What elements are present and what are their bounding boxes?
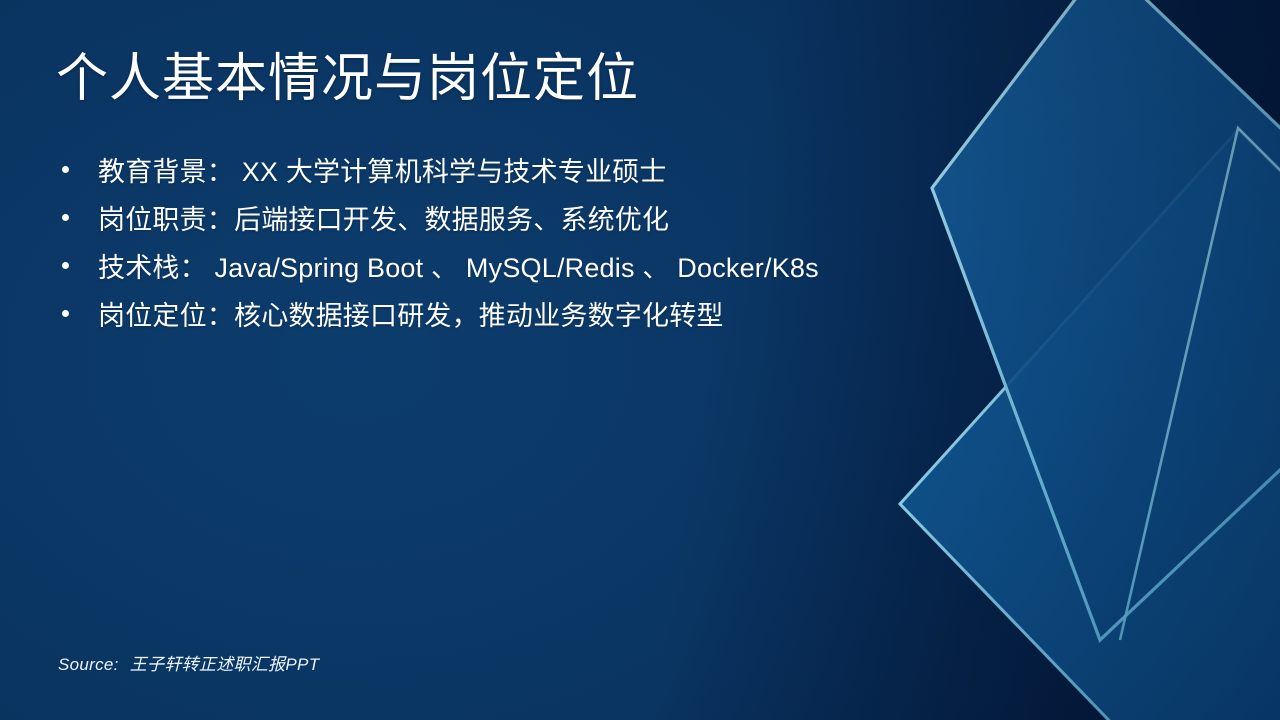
list-item: 岗位定位：核心数据接口研发，推动业务数字化转型: [60, 294, 1060, 342]
bullet-dot-icon: [60, 166, 70, 173]
presentation-slide: 个人基本情况与岗位定位 教育背景： XX 大学计算机科学与技术专业硕士 岗位职责…: [0, 0, 1280, 720]
bullet-dot-icon: [60, 262, 70, 269]
list-item: 技术栈： Java/Spring Boot 、 MySQL/Redis 、 Do…: [60, 246, 1060, 294]
source-footer: Source: 王子轩转正述职汇报PPT: [58, 653, 319, 677]
bullet-list: 教育背景： XX 大学计算机科学与技术专业硕士 岗位职责：后端接口开发、数据服务…: [60, 150, 1060, 342]
list-item: 教育背景： XX 大学计算机科学与技术专业硕士: [60, 150, 1060, 198]
source-value: 王子轩转正述职汇报PPT: [130, 655, 320, 674]
page-title: 个人基本情况与岗位定位: [56, 48, 639, 110]
list-item-label: 岗位定位：核心数据接口研发，推动业务数字化转型: [98, 294, 724, 338]
bullet-dot-icon: [60, 310, 70, 317]
source-label: Source:: [58, 655, 119, 674]
list-item-label: 技术栈： Java/Spring Boot 、 MySQL/Redis 、 Do…: [98, 246, 819, 290]
bullet-dot-icon: [60, 214, 70, 221]
list-item-label: 岗位职责：后端接口开发、数据服务、系统优化: [98, 198, 669, 242]
list-item: 岗位职责：后端接口开发、数据服务、系统优化: [60, 198, 1060, 246]
list-item-label: 教育背景： XX 大学计算机科学与技术专业硕士: [98, 150, 667, 194]
